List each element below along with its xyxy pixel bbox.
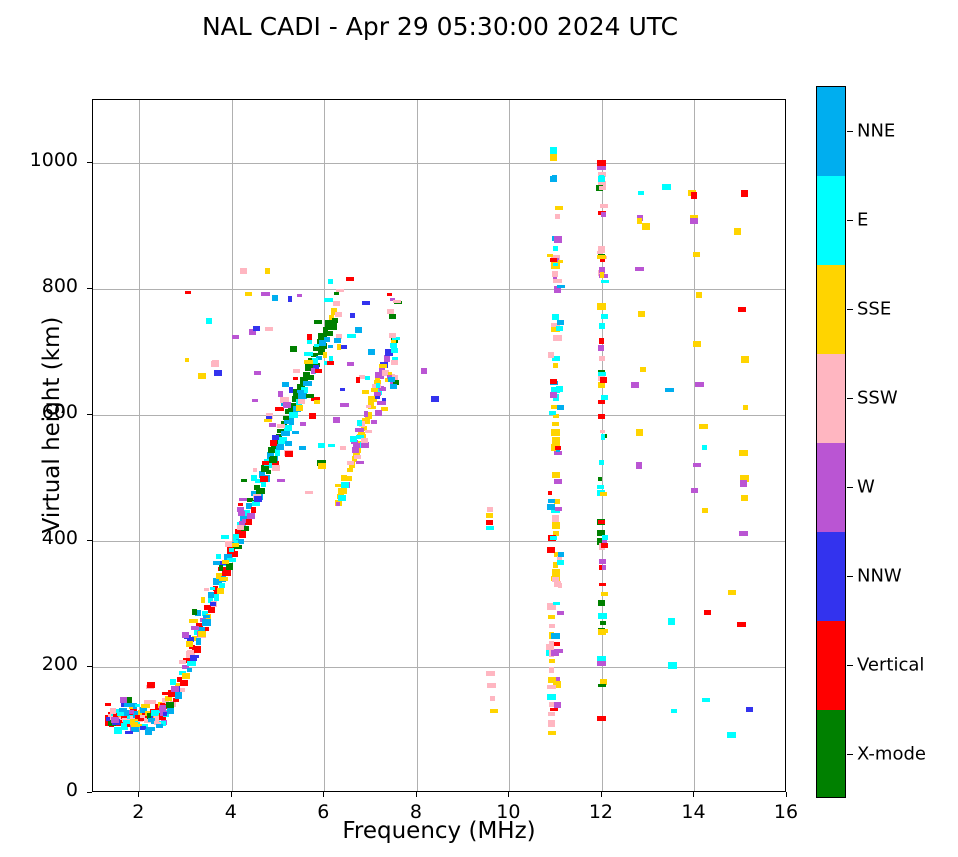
data-point [341, 345, 347, 349]
data-point [314, 320, 322, 324]
data-point [251, 507, 256, 513]
colorbar-segment-vertical[interactable] [817, 621, 845, 710]
data-point [554, 479, 562, 484]
data-point [253, 326, 260, 331]
data-point [740, 480, 747, 487]
data-point [340, 446, 346, 450]
data-point [338, 495, 346, 501]
data-point [355, 327, 362, 333]
data-point [208, 607, 215, 613]
data-point [238, 511, 245, 516]
data-point [335, 312, 342, 317]
data-point [326, 331, 333, 336]
data-point [324, 298, 333, 302]
data-point [357, 420, 362, 426]
data-point [192, 609, 197, 615]
data-point [553, 363, 558, 368]
data-point [597, 255, 606, 259]
data-point [334, 338, 341, 343]
data-point [297, 390, 304, 393]
data-point [315, 369, 322, 373]
x-axis-tick-label: 14 [663, 801, 723, 823]
data-point [375, 410, 382, 416]
data-point [281, 431, 290, 436]
data-point [553, 602, 560, 605]
data-point [341, 482, 349, 488]
data-point [261, 482, 266, 487]
data-point [374, 392, 381, 396]
data-point [352, 447, 359, 453]
data-point [599, 356, 605, 361]
colorbar-segment-nnw[interactable] [817, 532, 845, 621]
data-point [548, 720, 555, 727]
data-point [242, 519, 246, 523]
data-point [555, 214, 560, 219]
data-point [486, 520, 493, 525]
data-point [599, 175, 604, 181]
data-point [206, 318, 212, 324]
data-point [552, 577, 559, 582]
data-point [552, 422, 559, 426]
data-point [597, 661, 606, 666]
data-point [175, 692, 182, 699]
y-axis-tick [87, 666, 92, 667]
data-point [548, 352, 554, 358]
data-point [185, 291, 191, 294]
data-point [332, 318, 338, 323]
data-point [225, 541, 232, 547]
data-point [693, 341, 701, 347]
data-point [671, 709, 677, 713]
data-point [668, 618, 675, 625]
data-point [166, 702, 174, 708]
data-point [601, 314, 608, 319]
data-point [599, 186, 606, 190]
data-point [269, 457, 277, 463]
data-point [741, 356, 749, 363]
data-point [486, 671, 495, 676]
gridline-horizontal [93, 163, 785, 164]
data-point [293, 369, 300, 373]
data-point [229, 548, 234, 552]
x-axis-tick-label: 16 [756, 801, 816, 823]
data-point [693, 463, 701, 467]
data-point [390, 384, 397, 389]
data-point [182, 632, 189, 638]
data-point [210, 602, 216, 606]
data-point [553, 335, 562, 341]
data-point [292, 431, 299, 434]
gridline-horizontal [93, 667, 785, 668]
data-point [148, 700, 156, 704]
data-point [558, 260, 563, 263]
gridline-horizontal [93, 289, 785, 290]
data-point [598, 477, 602, 481]
data-point [598, 345, 604, 351]
data-point [240, 268, 247, 274]
data-point [361, 438, 368, 443]
data-point [347, 334, 356, 338]
data-point [552, 271, 558, 277]
data-point [296, 405, 303, 411]
data-point [640, 367, 646, 372]
data-point [314, 400, 320, 404]
data-point [598, 382, 605, 388]
colorbar-tick [847, 754, 853, 755]
data-point [241, 479, 247, 482]
data-point [336, 289, 344, 292]
data-point [314, 344, 319, 347]
data-point [547, 547, 555, 553]
data-point [269, 423, 276, 427]
data-point [557, 611, 564, 615]
y-axis-tick [87, 414, 92, 415]
data-point [341, 475, 347, 481]
data-point [284, 420, 291, 424]
data-point [699, 424, 708, 429]
data-point [738, 307, 746, 312]
colorbar-segment-e[interactable] [817, 176, 845, 265]
x-axis-tick-label: 8 [386, 801, 446, 823]
data-point [600, 492, 607, 496]
data-point [550, 379, 557, 384]
x-axis-tick-label: 10 [478, 801, 538, 823]
data-point [602, 565, 606, 570]
data-point [156, 724, 163, 728]
data-point [693, 252, 700, 257]
data-point [285, 441, 292, 446]
x-axis-tick-label: 4 [201, 801, 261, 823]
data-point [547, 254, 553, 257]
data-point [550, 708, 558, 711]
data-point [196, 638, 201, 645]
data-point [743, 405, 748, 410]
colorbar-label-vertical: Vertical [857, 654, 924, 675]
data-point [636, 462, 642, 469]
data-point [297, 294, 302, 297]
data-point [549, 659, 555, 663]
data-point [702, 445, 707, 450]
data-point [304, 352, 313, 356]
colorbar-tick [847, 309, 853, 310]
ionogram-figure: NAL CADI - Apr 29 05:30:00 2024 UTC Virt… [0, 0, 958, 857]
data-point [552, 522, 560, 529]
data-point [135, 704, 140, 707]
data-point [334, 292, 339, 295]
x-axis-tick [231, 792, 232, 797]
y-axis-tick [87, 162, 92, 163]
data-point [306, 375, 314, 380]
data-point [636, 429, 643, 436]
colorbar-segment-ssw[interactable] [817, 354, 845, 443]
data-point [365, 430, 372, 433]
data-point [306, 394, 314, 398]
data-point [338, 488, 347, 494]
data-point [548, 615, 555, 619]
data-point [252, 399, 258, 402]
data-point [598, 613, 607, 619]
gridline-vertical [694, 100, 695, 791]
data-point [553, 246, 558, 251]
data-point [260, 476, 268, 482]
data-point [210, 587, 215, 590]
data-point [212, 360, 219, 364]
data-point [548, 499, 555, 503]
data-point [551, 429, 560, 436]
data-point [289, 387, 293, 393]
colorbar-tick [847, 576, 853, 577]
data-point [318, 463, 326, 469]
data-point [552, 569, 560, 576]
data-point [734, 228, 741, 235]
data-point [597, 716, 606, 721]
colorbar-segment-nne[interactable] [817, 87, 845, 176]
data-point [599, 323, 605, 329]
data-point [117, 712, 124, 716]
data-point [272, 435, 279, 440]
data-point [159, 706, 166, 711]
data-point [599, 460, 604, 465]
data-point [490, 709, 498, 713]
data-point [365, 376, 370, 380]
data-point [202, 619, 211, 626]
data-point [170, 679, 176, 685]
data-point [333, 417, 340, 423]
x-axis-tick [508, 792, 509, 797]
data-point [387, 309, 394, 314]
data-point [219, 583, 225, 588]
data-point [554, 236, 562, 243]
y-axis-tick-label: 200 [8, 653, 78, 675]
gridline-vertical [417, 100, 418, 791]
data-point [553, 263, 558, 266]
data-point [222, 560, 229, 564]
data-point [251, 475, 257, 481]
data-point [696, 292, 702, 298]
data-point [336, 502, 340, 506]
data-point [105, 703, 111, 706]
data-point [387, 293, 392, 296]
data-point [140, 715, 145, 718]
data-point [335, 484, 341, 487]
data-point [601, 543, 608, 548]
data-point [554, 642, 560, 646]
data-point [741, 190, 748, 197]
x-axis-tick [693, 792, 694, 797]
data-point [431, 396, 439, 402]
data-point [283, 402, 291, 408]
data-point [307, 334, 312, 340]
data-point [203, 615, 210, 618]
data-point [289, 412, 298, 418]
data-point [638, 191, 644, 195]
colorbar-segment-sse[interactable] [817, 265, 845, 354]
data-point [187, 650, 194, 654]
data-point [187, 661, 196, 666]
data-point [642, 223, 650, 230]
y-axis-tick [87, 792, 92, 793]
data-point [597, 485, 604, 489]
data-point [232, 335, 239, 339]
data-point [362, 390, 369, 394]
data-point [300, 422, 306, 426]
data-point [254, 496, 262, 502]
data-point [550, 176, 557, 182]
data-point [347, 468, 353, 472]
data-point [549, 411, 556, 415]
data-point [110, 708, 116, 714]
data-point [318, 443, 325, 448]
colorbar-tick [847, 398, 853, 399]
colorbar-label-w: W [857, 476, 875, 497]
data-point [290, 346, 297, 352]
colorbar-label-e: E [857, 209, 868, 230]
data-point [490, 696, 495, 701]
data-point [597, 303, 606, 310]
gridline-vertical [509, 100, 510, 791]
data-point [600, 621, 606, 625]
data-point [167, 708, 174, 714]
data-point [304, 360, 313, 364]
data-point [125, 731, 133, 734]
data-point [366, 405, 371, 408]
gridline-horizontal [93, 415, 785, 416]
data-point [282, 382, 289, 387]
data-point [547, 604, 556, 610]
data-point [379, 364, 387, 368]
data-point [548, 712, 555, 716]
y-axis-tick-label: 400 [8, 527, 78, 549]
data-point [727, 732, 736, 738]
colorbar-tick [847, 487, 853, 488]
page-title: NAL CADI - Apr 29 05:30:00 2024 UTC [0, 12, 880, 41]
data-point [261, 292, 270, 296]
data-point [319, 340, 326, 346]
data-point [601, 434, 605, 440]
data-point [377, 401, 386, 405]
data-point [163, 712, 167, 716]
data-point [728, 590, 736, 595]
data-point [597, 251, 603, 254]
data-point [486, 526, 494, 530]
data-point [284, 425, 292, 431]
x-axis-tick [601, 792, 602, 797]
colorbar-segment-w[interactable] [817, 443, 845, 532]
data-point [551, 650, 559, 656]
data-point [147, 682, 155, 688]
data-point [185, 358, 189, 362]
data-point [702, 698, 710, 702]
data-point [328, 323, 337, 330]
plot-area[interactable] [92, 99, 786, 792]
data-point [303, 381, 312, 386]
data-point [186, 641, 193, 647]
data-point [695, 382, 704, 387]
data-point [270, 440, 277, 446]
data-point [327, 361, 334, 365]
data-point [151, 710, 158, 716]
data-point [548, 677, 556, 683]
data-point [368, 349, 375, 355]
data-point [739, 450, 748, 456]
data-point [555, 507, 562, 511]
data-point [219, 577, 228, 581]
data-point [232, 543, 239, 547]
data-point [550, 392, 557, 398]
data-point [558, 552, 564, 557]
data-point [237, 525, 244, 530]
data-point [550, 147, 557, 154]
data-point [547, 504, 555, 510]
data-point [486, 513, 493, 518]
colorbar-tick [847, 220, 853, 221]
data-point [201, 597, 205, 603]
data-point [557, 320, 564, 325]
data-point [598, 600, 605, 606]
data-point [601, 395, 608, 400]
data-point [131, 722, 138, 727]
data-point [548, 491, 552, 495]
data-point [598, 400, 605, 404]
data-point [356, 461, 364, 464]
data-point [222, 570, 231, 576]
data-point [739, 531, 748, 536]
data-point [347, 461, 354, 465]
data-point [552, 472, 560, 478]
y-axis-tick-label: 0 [8, 779, 78, 801]
data-point [702, 508, 708, 513]
colorbar-segment-x-mode[interactable] [817, 710, 845, 798]
data-point [277, 479, 285, 482]
data-point [550, 258, 557, 262]
data-point [597, 166, 606, 170]
colorbar-tick [847, 665, 853, 666]
data-point [547, 694, 556, 700]
data-point [547, 685, 556, 689]
data-point [329, 356, 333, 361]
azimuth-colorbar[interactable] [816, 86, 846, 798]
data-point [384, 355, 390, 362]
x-axis-tick [138, 792, 139, 797]
data-point [704, 610, 711, 615]
data-point [253, 468, 257, 472]
data-point [599, 583, 606, 586]
x-axis-tick [786, 792, 787, 797]
data-point [600, 204, 608, 208]
data-point [389, 314, 396, 319]
data-point [162, 692, 168, 695]
data-point [189, 619, 198, 623]
data-point [124, 703, 133, 707]
data-point [180, 680, 188, 686]
data-point [254, 371, 261, 375]
data-point [601, 592, 608, 596]
data-point [340, 403, 349, 407]
colorbar-label-nne: NNE [857, 120, 895, 141]
data-point [214, 594, 219, 601]
data-point [106, 717, 110, 721]
x-axis-tick [323, 792, 324, 797]
data-point [599, 559, 606, 564]
data-point [337, 344, 341, 350]
data-point [690, 218, 698, 224]
data-point [746, 707, 753, 712]
data-point [328, 279, 333, 284]
data-point [350, 436, 357, 442]
data-point [328, 345, 333, 348]
data-point [691, 488, 698, 493]
data-point [557, 560, 564, 565]
